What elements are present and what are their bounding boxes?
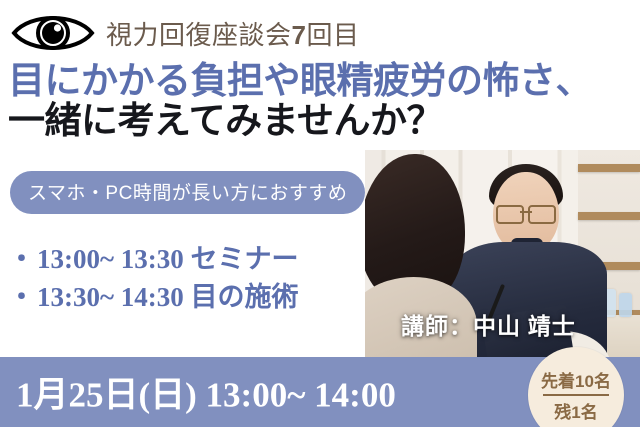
schedule-activity: 目の施術 (191, 282, 299, 312)
schedule-bullet: ・ (8, 282, 35, 312)
schedule-bullet: ・ (8, 244, 35, 274)
headline-line-2: 一緒に考えてみませんか？ (8, 102, 592, 142)
header: 視力回復座談会7回目 (10, 10, 360, 56)
header-title: 視力回復座談会7回目 (106, 15, 360, 52)
capacity-remaining: 残1名 (554, 398, 597, 423)
instructor-photo: 講師：中山 靖士 (365, 150, 640, 357)
promo-banner: 視力回復座談会7回目 目にかかる負担や眼精疲労の怖さ、 一緒に考えてみませんか？… (0, 0, 640, 427)
header-title-number: 7 (292, 20, 307, 50)
header-title-prefix: 視力回復座談会 (106, 20, 292, 50)
schedule-item: ・13:00~ 13:30 セミナー (8, 240, 299, 278)
recommendation-pill: スマホ・PC時間が長い方におすすめ (10, 171, 365, 214)
event-date-text: 1月25日(日) 13:00~ 14:00 (16, 367, 396, 418)
schedule-item: ・13:30~ 14:30 目の施術 (8, 278, 299, 316)
glasses-left-lens (496, 205, 524, 224)
photo-instructor-glasses (496, 205, 556, 220)
header-title-suffix: 回目 (306, 20, 359, 50)
headline: 目にかかる負担や眼精疲労の怖さ、 一緒に考えてみませんか？ (8, 62, 592, 142)
capacity-divider (543, 394, 609, 396)
capacity-total: 先着10名 (541, 367, 611, 392)
shelf-plank (578, 164, 640, 172)
shelf-plank (578, 212, 640, 220)
schedule-activity: セミナー (191, 244, 299, 274)
eye-icon (10, 10, 96, 56)
headline-line-1: 目にかかる負担や眼精疲労の怖さ、 (8, 62, 592, 102)
schedule-list: ・13:00~ 13:30 セミナー ・13:30~ 14:30 目の施術 (8, 240, 299, 317)
instructor-caption: 講師：中山 靖士 (401, 307, 576, 341)
glasses-right-lens (528, 205, 556, 224)
photo-bottle (619, 293, 632, 317)
schedule-time: 13:00~ 13:30 (37, 244, 184, 274)
schedule-time: 13:30~ 14:30 (37, 282, 184, 312)
